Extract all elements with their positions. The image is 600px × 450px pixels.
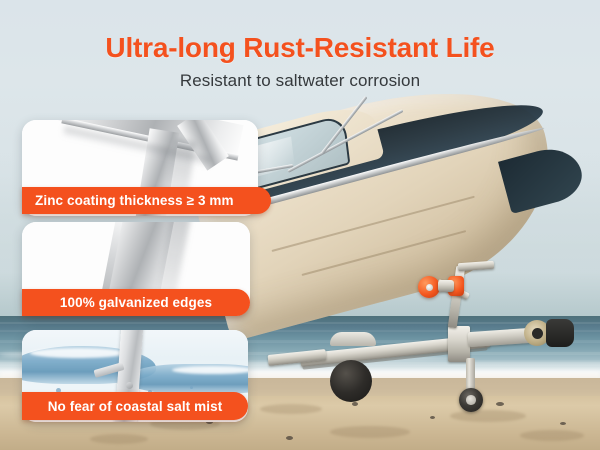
page-title: Ultra-long Rust-Resistant Life: [0, 0, 600, 64]
post-bolt: [126, 382, 133, 389]
trailer-coupler-box: [448, 326, 470, 362]
wave-crest-2: [172, 366, 248, 374]
trailer-fender: [330, 332, 376, 346]
badge-galvanized-edges: 100% galvanized edges: [22, 289, 250, 316]
header: Ultra-long Rust-Resistant Life Resistant…: [0, 0, 600, 110]
trailer-coupler-hole: [532, 328, 543, 339]
marketing-banner: Zinc coating thickness ≥ 3 mm 100% galva…: [0, 0, 600, 450]
badge-zinc-coating-label: Zinc coating thickness ≥ 3 mm: [35, 193, 234, 208]
trailer-wheel: [330, 360, 372, 402]
badge-zinc-coating: Zinc coating thickness ≥ 3 mm: [22, 187, 271, 214]
page-subtitle: Resistant to saltwater corrosion: [0, 64, 600, 91]
trailer-roller-hub: [426, 284, 433, 291]
trailer-roller-bracket: [438, 280, 454, 292]
badge-galvanized-edges-label: 100% galvanized edges: [60, 295, 212, 310]
badge-salt-mist-label: No fear of coastal salt mist: [48, 399, 223, 414]
trailer-jack-wheel: [459, 388, 483, 412]
wave-crest-1: [30, 348, 126, 358]
trailer-jack-post: [466, 358, 475, 392]
badge-salt-mist: No fear of coastal salt mist: [22, 392, 248, 420]
trailer-coupler-cap: [546, 319, 574, 347]
